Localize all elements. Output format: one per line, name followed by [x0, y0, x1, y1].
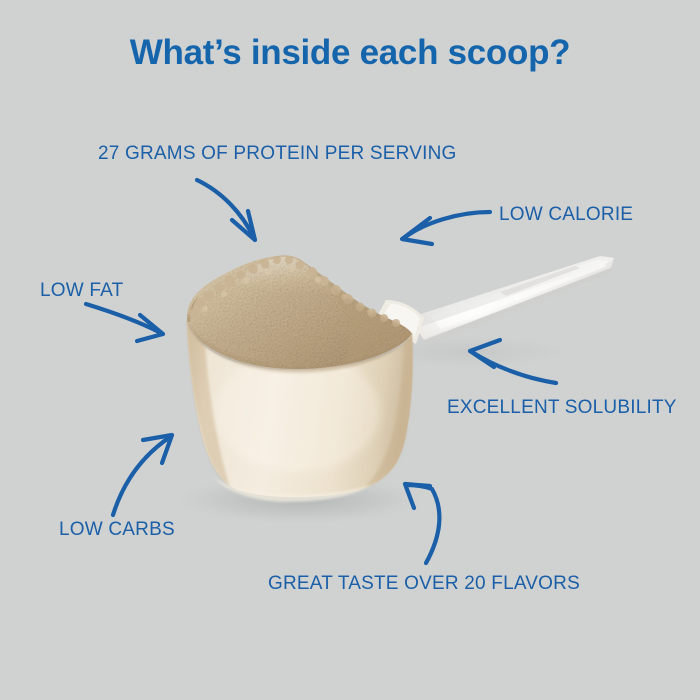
- callout-label-protein: 27 GRAMS OF PROTEIN PER SERVING: [98, 142, 456, 165]
- infographic-canvas: What’s inside each scoop? 27 GRAMS OF PR…: [0, 0, 700, 700]
- callout-label-low-calorie: LOW CALORIE: [499, 203, 633, 226]
- page-title-light: What’s inside: [130, 33, 360, 72]
- callout-label-low-carbs: LOW CARBS: [59, 518, 175, 541]
- page-title-bold: each scoop?: [360, 33, 571, 72]
- callout-label-excellent-solubility: EXCELLENT SOLUBILITY: [447, 396, 677, 419]
- protein-powder-mound: [187, 255, 412, 373]
- page-title: What’s inside each scoop?: [0, 32, 700, 74]
- callout-label-great-taste: GREAT TASTE OVER 20 FLAVORS: [268, 572, 580, 595]
- protein-powder-scoop-image: [0, 0, 700, 700]
- callout-label-low-fat: LOW FAT: [40, 279, 123, 302]
